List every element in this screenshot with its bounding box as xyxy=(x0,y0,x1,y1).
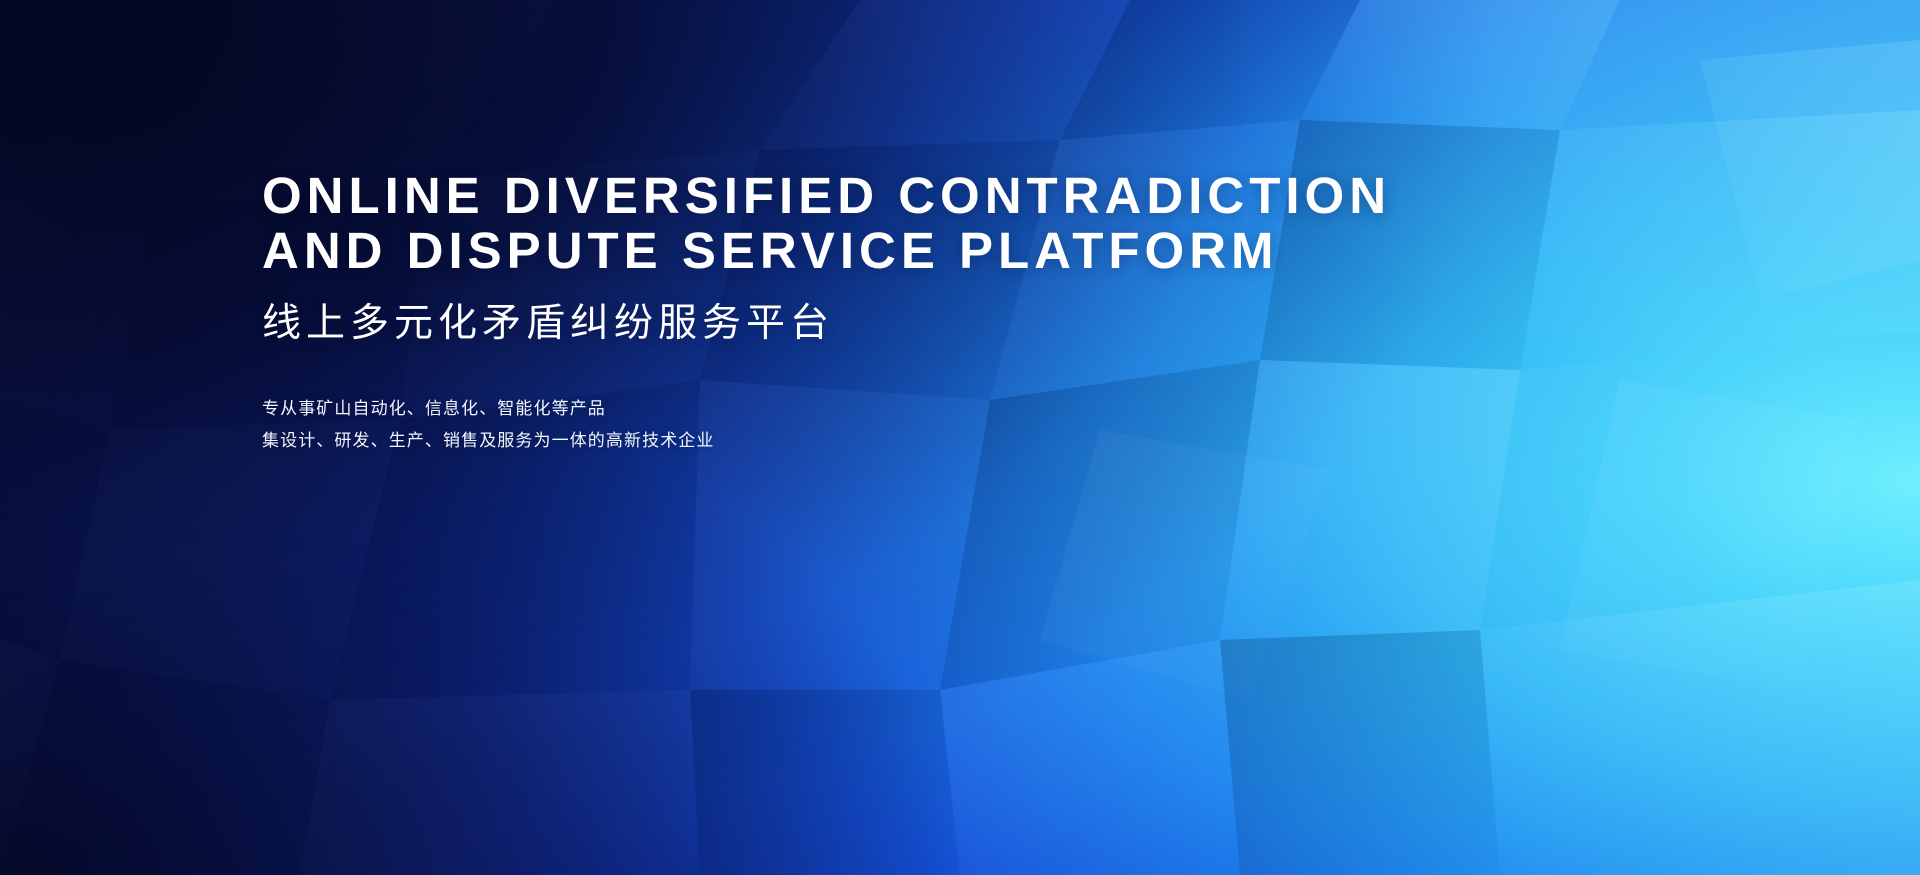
hero-banner: ONLINE DIVERSIFIED CONTRADICTION AND DIS… xyxy=(0,0,1920,875)
headline-line-2: AND DISPUTE SERVICE PLATFORM xyxy=(262,223,1462,278)
description-line-2: 集设计、研发、生产、销售及服务为一体的高新技术企业 xyxy=(262,425,1462,457)
page-subtitle: 线上多元化矛盾纠纷服务平台 xyxy=(262,300,1462,348)
description-line-1: 专从事矿山自动化、信息化、智能化等产品 xyxy=(262,393,1462,425)
description-block: 专从事矿山自动化、信息化、智能化等产品 集设计、研发、生产、销售及服务为一体的高… xyxy=(262,393,1462,457)
page-title: ONLINE DIVERSIFIED CONTRADICTION AND DIS… xyxy=(262,168,1462,278)
headline-line-1: ONLINE DIVERSIFIED CONTRADICTION xyxy=(262,168,1462,223)
hero-content: ONLINE DIVERSIFIED CONTRADICTION AND DIS… xyxy=(262,168,1462,457)
